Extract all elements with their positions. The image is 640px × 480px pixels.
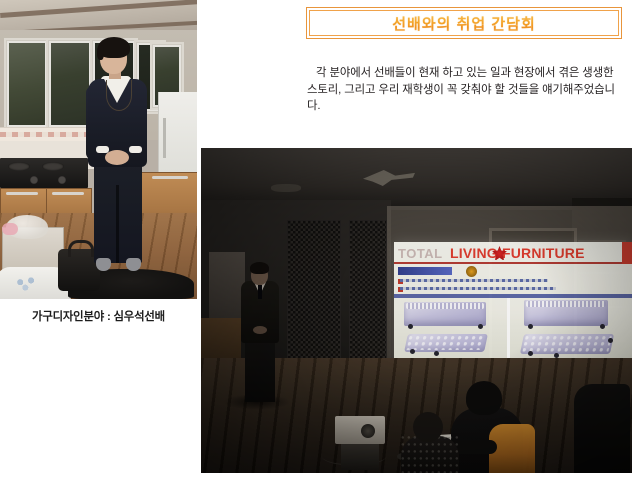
presenter-legs bbox=[245, 340, 275, 402]
person-foot bbox=[96, 258, 111, 271]
cabinet-handle bbox=[152, 176, 188, 179]
refrigerator bbox=[158, 92, 197, 182]
ceiling-light bbox=[271, 184, 301, 192]
slide-logo bbox=[466, 266, 477, 277]
audience-head bbox=[466, 381, 502, 415]
page-title: 선배와의 취업 간담회 bbox=[392, 13, 536, 34]
slide-title-inner-border: 선배와의 취업 간담회 bbox=[309, 10, 619, 36]
person-cuff bbox=[129, 146, 142, 153]
window-pane bbox=[4, 38, 50, 130]
mattress-image bbox=[404, 302, 486, 326]
cabinet-handle bbox=[52, 192, 84, 195]
audience-member bbox=[574, 384, 630, 473]
presenter-hands bbox=[253, 326, 267, 334]
mattress-image bbox=[524, 300, 608, 326]
slide-tab bbox=[398, 267, 452, 275]
mattress-image bbox=[520, 334, 614, 354]
projector bbox=[335, 416, 385, 444]
person-foot bbox=[126, 258, 141, 271]
person-hands bbox=[105, 150, 129, 165]
slide-title-ghost: TOTAL bbox=[398, 246, 443, 261]
gas-stove bbox=[0, 158, 88, 188]
audience-head bbox=[413, 412, 443, 442]
slide-title-box: 선배와의 취업 간담회 bbox=[306, 7, 622, 39]
person-hair bbox=[98, 37, 130, 58]
photo-caption: 가구디자인분야 : 심우석선배 bbox=[0, 308, 197, 324]
mattress-image bbox=[404, 334, 488, 352]
presenter-necktie bbox=[258, 285, 262, 299]
presenter-hair bbox=[250, 262, 269, 274]
body-paragraph: 각 분야에서 선배들이 현재 하고 있는 일과 현장에서 겪은 생생한 스토리,… bbox=[307, 65, 619, 114]
slide-title-living-furniture: LIVING FURNITURE bbox=[450, 245, 585, 261]
cabinet-handle bbox=[6, 192, 38, 195]
photo-projection-room: TOTAL LIVING FURNITURE bbox=[201, 148, 632, 473]
projected-slide: TOTAL LIVING FURNITURE bbox=[394, 242, 632, 364]
pink-object bbox=[2, 223, 18, 235]
refrigerator bbox=[209, 252, 245, 318]
person-lanyard bbox=[106, 80, 132, 111]
photo-presenter-kitchen bbox=[0, 0, 197, 299]
person-legs bbox=[94, 163, 142, 263]
projector-stand bbox=[341, 442, 379, 470]
